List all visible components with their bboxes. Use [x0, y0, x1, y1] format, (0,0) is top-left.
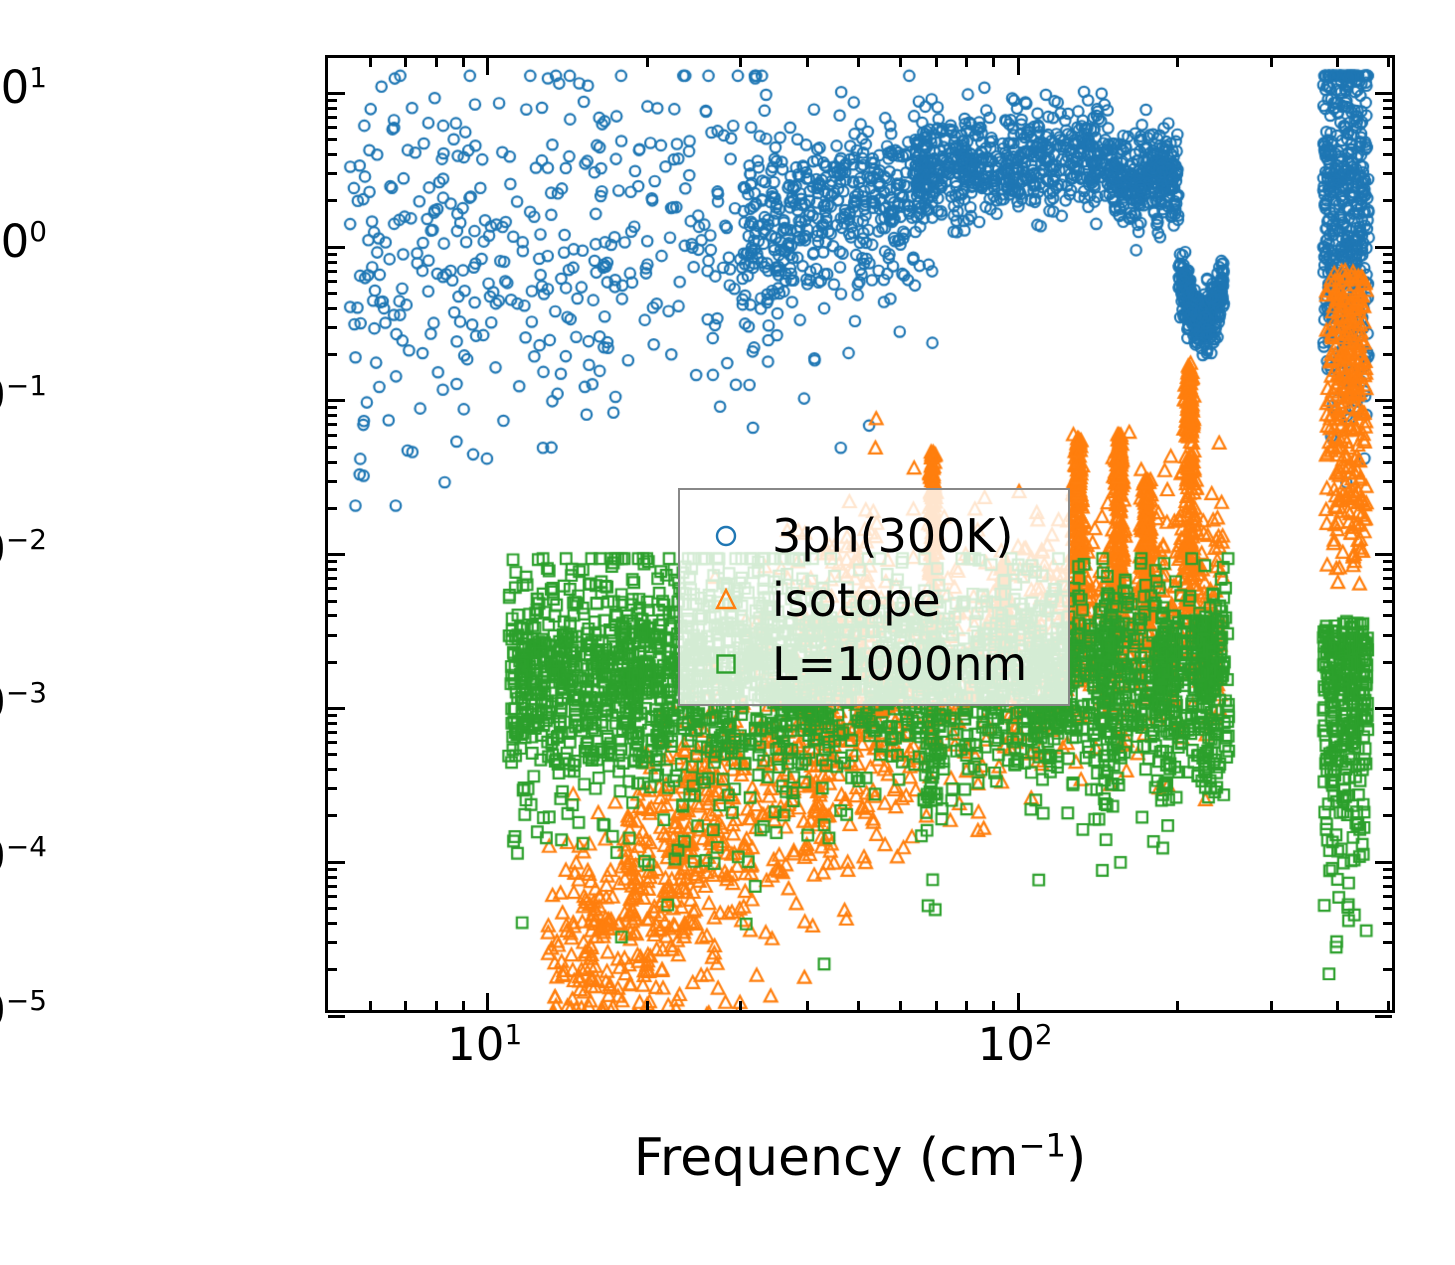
y-tick	[1383, 814, 1392, 817]
y-tick	[328, 868, 337, 871]
y-tick	[1383, 722, 1392, 725]
plot-area: 3ph(300K) isotope L=1000nm	[325, 55, 1395, 1013]
y-tick	[328, 461, 337, 464]
y-tick-label: 10−4	[0, 834, 47, 879]
y-tick	[1383, 560, 1392, 563]
x-tick	[646, 1001, 649, 1010]
x-axis-title: Frequency (cm−1)	[325, 1128, 1395, 1188]
y-tick	[328, 138, 337, 141]
y-tick	[328, 406, 337, 409]
y-tick	[328, 326, 337, 329]
y-tick	[1383, 326, 1392, 329]
y-tick	[328, 968, 337, 971]
y-tick	[1383, 968, 1392, 971]
y-tick	[1383, 480, 1392, 483]
y-tick	[1383, 423, 1392, 426]
y-tick	[328, 1015, 345, 1018]
y-tick	[328, 353, 337, 356]
y-tick	[1375, 1015, 1392, 1018]
y-tick	[1383, 261, 1392, 264]
y-tick	[328, 876, 337, 879]
legend-item-boundary[interactable]: L=1000nm	[680, 632, 1068, 696]
y-tick	[328, 434, 337, 437]
y-tick	[1383, 634, 1392, 637]
y-tick	[328, 414, 337, 417]
x-tick	[404, 1001, 407, 1010]
y-tick	[1375, 399, 1392, 402]
y-tick	[328, 253, 337, 256]
y-tick	[1383, 280, 1392, 283]
y-tick	[1383, 868, 1392, 871]
x-tick	[1270, 1001, 1273, 1010]
x-tick	[857, 58, 860, 67]
y-tick	[1375, 861, 1392, 864]
y-tick	[1383, 172, 1392, 175]
y-tick	[1375, 707, 1392, 710]
y-tick	[1383, 577, 1392, 580]
y-tick	[1383, 876, 1392, 879]
y-tick	[1383, 414, 1392, 417]
legend: 3ph(300K) isotope L=1000nm	[678, 488, 1070, 706]
x-tick	[1017, 58, 1020, 75]
x-tick	[1270, 58, 1273, 67]
y-tick	[328, 126, 337, 129]
x-tick	[806, 58, 809, 67]
y-tick	[1383, 99, 1392, 102]
y-tick	[1383, 941, 1392, 944]
y-tick	[1383, 461, 1392, 464]
y-tick	[328, 172, 337, 175]
y-tick	[1383, 753, 1392, 756]
legend-label-3ph: 3ph(300K)	[772, 513, 1013, 559]
circle-open-icon	[680, 519, 772, 553]
y-tick	[328, 199, 337, 202]
y-tick	[328, 446, 337, 449]
y-tick	[328, 577, 337, 580]
y-tick	[1383, 741, 1392, 744]
y-tick	[328, 270, 337, 273]
y-tick	[328, 92, 345, 95]
y-tick	[328, 741, 337, 744]
y-tick	[1383, 885, 1392, 888]
y-tick	[1383, 731, 1392, 734]
x-tick	[739, 1001, 742, 1010]
legend-item-3ph[interactable]: 3ph(300K)	[680, 504, 1068, 568]
x-tick	[965, 58, 968, 67]
x-tick	[486, 993, 489, 1010]
x-tick	[369, 1001, 372, 1010]
x-tick	[935, 58, 938, 67]
x-tick	[739, 58, 742, 67]
y-tick	[328, 787, 337, 790]
y-tick-label: 10−5	[0, 988, 47, 1033]
square-open-icon	[680, 647, 772, 681]
y-tick	[328, 116, 337, 119]
y-tick	[328, 907, 337, 910]
y-tick	[1383, 600, 1392, 603]
y-tick	[328, 553, 345, 556]
y-tick	[328, 634, 337, 637]
y-tick	[328, 99, 337, 102]
y-tick	[1383, 307, 1392, 310]
y-tick	[1383, 614, 1392, 617]
y-tick	[328, 568, 337, 571]
x-tick	[992, 58, 995, 67]
x-tick	[1336, 1001, 1339, 1010]
legend-label-boundary: L=1000nm	[772, 641, 1027, 687]
legend-label-isotope: isotope	[772, 577, 941, 623]
y-tick	[1375, 246, 1392, 249]
x-tick-label: 102	[978, 1022, 1053, 1067]
y-tick	[328, 814, 337, 817]
x-axis-title-tail: )	[1066, 1128, 1086, 1188]
y-tick	[1383, 292, 1392, 295]
x-tick	[462, 58, 465, 67]
x-tick	[435, 58, 438, 67]
x-axis-title-text: Frequency (cm	[634, 1128, 1019, 1188]
y-tick	[328, 895, 337, 898]
y-tick	[1383, 568, 1392, 571]
y-tick	[328, 614, 337, 617]
x-tick	[435, 1001, 438, 1010]
y-tick	[328, 107, 337, 110]
x-tick	[935, 1001, 938, 1010]
y-tick-label: 10−1	[0, 373, 47, 418]
triangle-open-icon	[680, 583, 772, 617]
y-tick	[1383, 661, 1392, 664]
y-tick	[1383, 714, 1392, 717]
x-tick	[369, 58, 372, 67]
y-tick	[1383, 270, 1392, 273]
x-tick	[899, 58, 902, 67]
y-tick	[328, 600, 337, 603]
y-tick	[328, 292, 337, 295]
x-tick	[486, 58, 489, 75]
y-tick	[1383, 507, 1392, 510]
y-tick	[328, 768, 337, 771]
y-tick	[328, 261, 337, 264]
y-tick	[1383, 895, 1392, 898]
y-tick	[328, 153, 337, 156]
y-tick	[328, 661, 337, 664]
y-tick	[1383, 587, 1392, 590]
y-tick	[1383, 107, 1392, 110]
y-tick	[328, 423, 337, 426]
y-tick	[1383, 768, 1392, 771]
y-tick	[328, 714, 337, 717]
y-tick	[328, 480, 337, 483]
x-tick-label: 101	[447, 1022, 522, 1067]
y-tick-label: 100	[0, 219, 47, 264]
x-tick	[1176, 1001, 1179, 1010]
x-tick	[992, 1001, 995, 1010]
y-tick	[328, 885, 337, 888]
y-tick	[328, 922, 337, 925]
y-tick-label: 101	[0, 65, 47, 110]
x-tick	[1387, 58, 1390, 67]
y-tick-label: 10−2	[0, 527, 47, 572]
y-tick	[1383, 907, 1392, 910]
y-tick	[328, 507, 337, 510]
x-tick	[965, 1001, 968, 1010]
x-tick	[1336, 58, 1339, 67]
y-tick	[1383, 406, 1392, 409]
y-tick	[1375, 92, 1392, 95]
figure-scattering-rate: Scattering Rate (ps−1) Frequency (cm−1) …	[0, 0, 1455, 1265]
y-tick	[328, 722, 337, 725]
y-tick	[1383, 787, 1392, 790]
y-tick	[328, 707, 345, 710]
y-tick	[328, 941, 337, 944]
y-tick	[1383, 253, 1392, 256]
y-tick	[1375, 553, 1392, 556]
x-tick	[462, 1001, 465, 1010]
y-tick	[328, 731, 337, 734]
x-tick	[857, 1001, 860, 1010]
y-tick	[1383, 922, 1392, 925]
y-tick	[1383, 434, 1392, 437]
y-tick	[1383, 138, 1392, 141]
x-tick	[1387, 1001, 1390, 1010]
y-tick	[328, 587, 337, 590]
y-tick	[328, 399, 345, 402]
y-tick	[328, 753, 337, 756]
legend-item-isotope[interactable]: isotope	[680, 568, 1068, 632]
x-tick	[646, 58, 649, 67]
y-tick	[1383, 126, 1392, 129]
y-tick	[1383, 353, 1392, 356]
x-tick	[806, 1001, 809, 1010]
y-tick	[1383, 446, 1392, 449]
y-tick	[1383, 199, 1392, 202]
y-tick	[328, 861, 345, 864]
x-tick	[404, 58, 407, 67]
y-tick	[328, 307, 337, 310]
x-axis-title-exponent: −1	[1018, 1127, 1066, 1165]
y-tick	[1383, 116, 1392, 119]
y-tick	[328, 280, 337, 283]
x-tick	[899, 1001, 902, 1010]
x-tick	[1017, 993, 1020, 1010]
y-tick-label: 10−3	[0, 680, 47, 725]
y-tick	[328, 560, 337, 563]
x-tick	[1176, 58, 1179, 67]
y-tick	[328, 246, 345, 249]
y-tick	[1383, 153, 1392, 156]
